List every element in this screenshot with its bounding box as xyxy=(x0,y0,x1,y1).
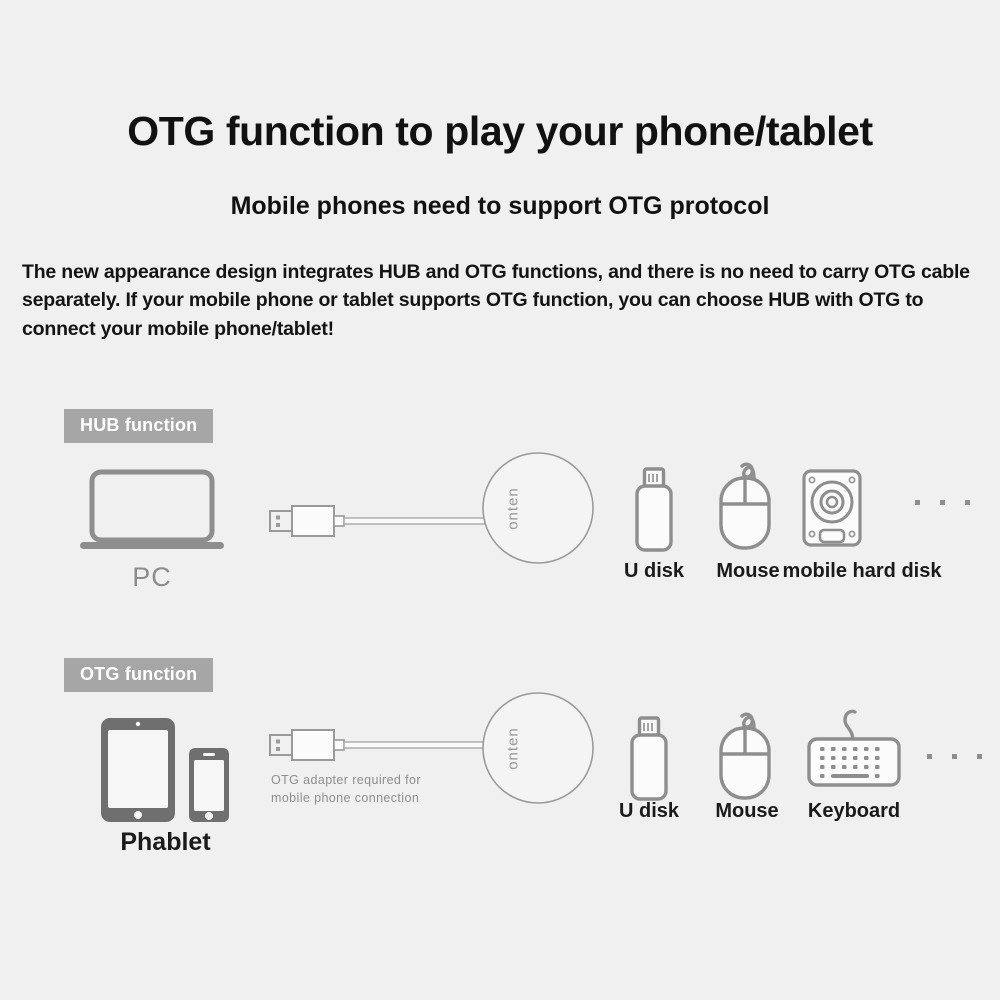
otg-adapter-note: OTG adapter required for mobile phone co… xyxy=(271,771,421,807)
more-devices-dots-otg xyxy=(927,754,982,759)
device-label-keyboard-otg: Keyboard xyxy=(790,800,918,823)
tablet-and-phone-icon xyxy=(99,716,231,824)
more-devices-dots-hub xyxy=(915,500,970,505)
usb-a-connector-icon xyxy=(268,502,488,546)
page-description: The new appearance design integrates HUB… xyxy=(22,258,980,343)
device-label-u-disk-otg: U disk xyxy=(597,800,701,823)
section-badge-otg: OTG function xyxy=(64,658,213,692)
usb-hub-puck-icon-otg xyxy=(481,691,595,805)
section-badge-hub: HUB function xyxy=(64,409,213,443)
usb-a-connector-icon-otg xyxy=(268,726,488,770)
usb-flash-drive-icon-otg xyxy=(627,716,671,802)
device-label-mouse-otg: Mouse xyxy=(705,800,789,823)
laptop-icon xyxy=(78,468,226,558)
device-label-u-disk-hub: U disk xyxy=(602,560,706,583)
mouse-icon-otg xyxy=(716,702,778,802)
external-hard-disk-icon xyxy=(801,468,863,548)
source-label-pc: PC xyxy=(78,562,226,593)
keyboard-icon xyxy=(806,706,902,788)
hub-brand-label: onten xyxy=(505,479,522,539)
device-label-hard-disk-hub: mobile hard disk xyxy=(776,560,948,583)
source-label-phablet: Phablet xyxy=(78,828,253,857)
product-infographic: OTG function to play your phone/tablet M… xyxy=(0,0,1000,1000)
otg-adapter-note-line2: mobile phone connection xyxy=(271,789,421,807)
otg-adapter-note-line1: OTG adapter required for xyxy=(271,771,421,789)
usb-flash-drive-icon xyxy=(632,467,676,553)
usb-hub-puck-icon xyxy=(481,451,595,565)
page-subtitle: Mobile phones need to support OTG protoc… xyxy=(0,192,1000,221)
page-title: OTG function to play your phone/tablet xyxy=(0,108,1000,155)
hub-brand-label-otg: onten xyxy=(505,719,522,779)
mouse-icon xyxy=(716,452,778,552)
